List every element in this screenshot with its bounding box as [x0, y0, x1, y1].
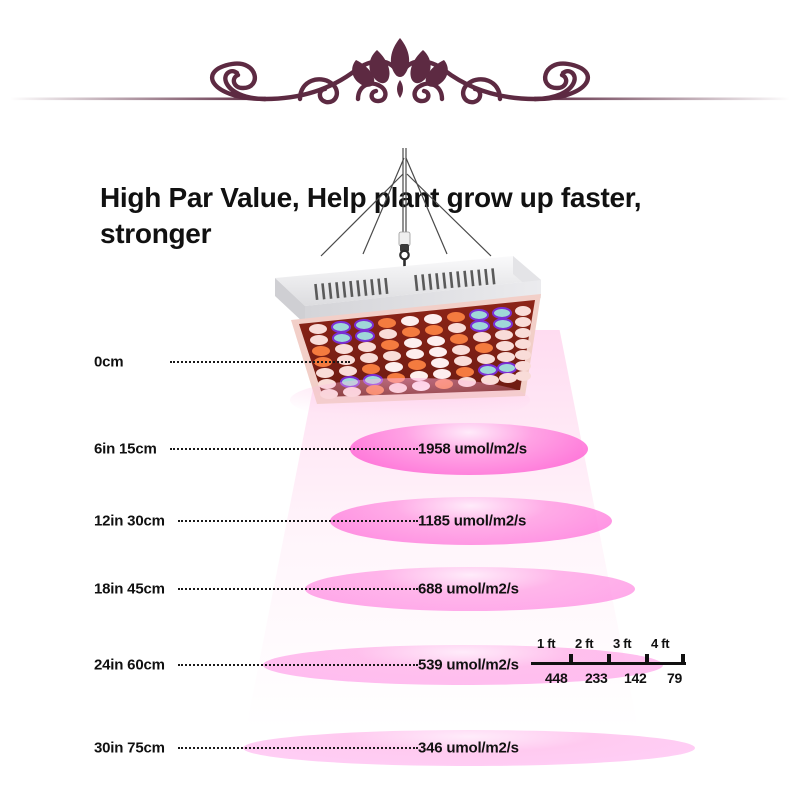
ruler-tick-2	[607, 654, 611, 662]
ruler-value-2: 233	[585, 670, 607, 686]
distance-label: 12in 30cm	[94, 513, 165, 530]
ruler-baseline	[531, 662, 686, 665]
leader-dotted-line	[178, 747, 418, 749]
ruler-top-label-3: 3 ft	[613, 636, 631, 651]
par-value-label: 539 umol/m2/s	[418, 657, 519, 674]
distance-label: 0cm	[94, 354, 123, 371]
decorative-flourish-icon	[0, 30, 800, 120]
leader-dotted-line	[178, 520, 418, 522]
ruler-top-label-1: 1 ft	[537, 636, 555, 651]
leader-dotted-line	[170, 361, 350, 363]
ruler-value-3: 142	[624, 670, 646, 686]
par-value-label: 1958 umol/m2/s	[418, 441, 527, 458]
distance-label: 18in 45cm	[94, 581, 165, 598]
ruler-tick-4	[681, 654, 685, 662]
distance-label: 30in 75cm	[94, 740, 165, 757]
ruler-tick-1	[569, 654, 573, 662]
ruler-value-4: 79	[667, 670, 682, 686]
distance-label: 6in 15cm	[94, 441, 157, 458]
par-value-label: 346 umol/m2/s	[418, 740, 519, 757]
ruler-tick-3	[645, 654, 649, 662]
leader-dotted-line	[178, 588, 418, 590]
infographic-canvas: High Par Value, Help plant grow up faste…	[0, 0, 800, 800]
leader-dotted-line	[178, 664, 418, 666]
leader-dotted-line	[170, 448, 418, 450]
led-grow-light-panel	[255, 128, 555, 428]
ruler-value-1: 448	[545, 670, 567, 686]
par-value-label: 688 umol/m2/s	[418, 581, 519, 598]
ruler-top-label-2: 2 ft	[575, 636, 593, 651]
ruler-top-label-4: 4 ft	[651, 636, 669, 651]
par-value-label: 1185 umol/m2/s	[418, 513, 526, 530]
distance-label: 24in 60cm	[94, 657, 165, 674]
